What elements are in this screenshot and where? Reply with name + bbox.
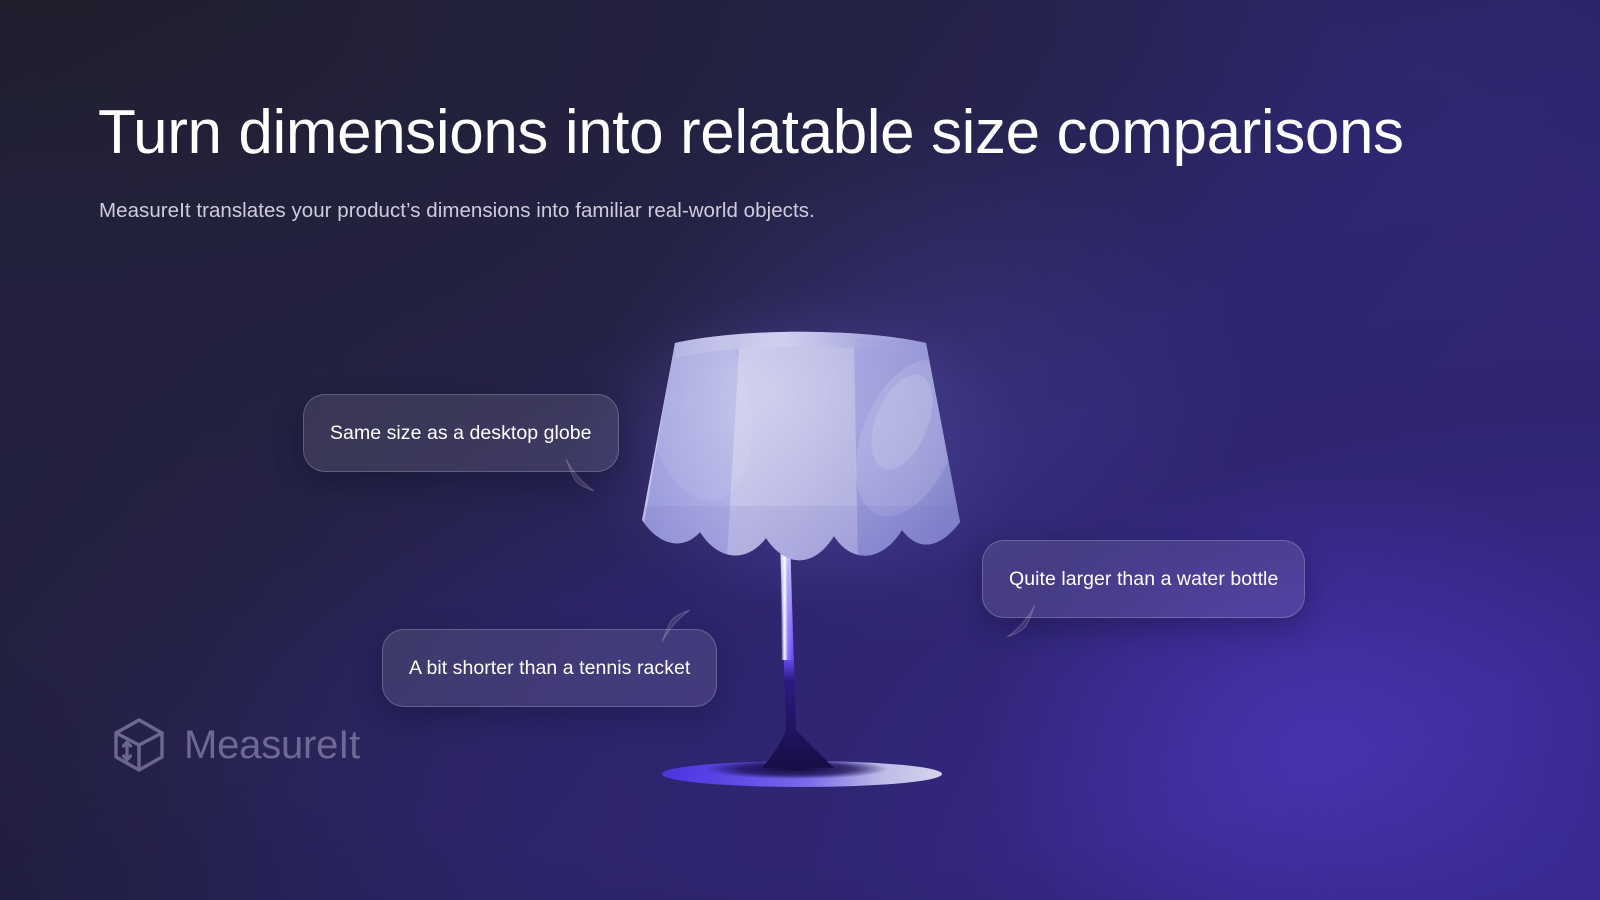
table-lamp-illustration — [590, 310, 1010, 810]
speech-bubble-bottle[interactable]: Quite larger than a water bottle — [982, 540, 1305, 618]
speech-bubble-tail-icon — [997, 604, 1037, 644]
speech-bubble-racket-label: A bit shorter than a tennis racket — [409, 657, 690, 680]
brand-name: MeasureIt — [184, 723, 360, 768]
measure-cube-icon — [108, 714, 170, 776]
speech-bubble-tail-icon — [660, 603, 700, 643]
speech-bubble-globe-body: Same size as a desktop globe — [303, 394, 619, 472]
speech-bubble-bottle-body: Quite larger than a water bottle — [982, 540, 1305, 618]
speech-bubble-tail-icon — [564, 458, 604, 498]
speech-bubble-racket[interactable]: A bit shorter than a tennis racket — [382, 629, 717, 707]
speech-bubble-racket-body: A bit shorter than a tennis racket — [382, 629, 717, 707]
page-headline: Turn dimensions into relatable size comp… — [98, 100, 1518, 167]
brand-logo[interactable]: MeasureIt — [108, 714, 360, 776]
page-subhead: MeasureIt translates your product’s dime… — [99, 199, 815, 223]
speech-bubble-bottle-label: Quite larger than a water bottle — [1009, 568, 1278, 591]
hero-stage: Turn dimensions into relatable size comp… — [0, 0, 1600, 900]
speech-bubble-globe-label: Same size as a desktop globe — [330, 422, 592, 445]
speech-bubble-globe[interactable]: Same size as a desktop globe — [303, 394, 619, 472]
